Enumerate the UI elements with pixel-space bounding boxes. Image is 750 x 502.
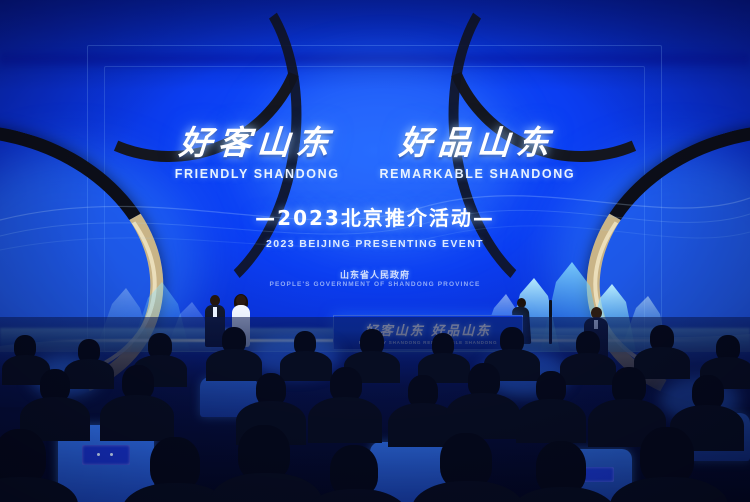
conference-stage-photo: 好客山东 FRIENDLY SHANDONG 好品山东 REMARKABLE S… [0, 0, 750, 502]
audience-shoulders [516, 399, 586, 443]
title-left-chinese: 好客山东 [178, 126, 336, 161]
audience-shoulders [280, 351, 332, 381]
male-host-shirt [213, 307, 217, 317]
audience-area [0, 317, 750, 502]
audience-shoulders [100, 395, 174, 441]
audience-shoulders [64, 359, 114, 389]
audience-shoulders [308, 397, 382, 443]
chair-plate-dot [110, 453, 113, 456]
title-right-chinese: 好品山东 [398, 126, 556, 161]
title-left-group: 好客山东 FRIENDLY SHANDONG [175, 126, 340, 181]
led-title-block: 好客山东 FRIENDLY SHANDONG 好品山东 REMARKABLE S… [0, 126, 750, 250]
chair-plate-dot [97, 453, 100, 456]
title-right-group: 好品山东 REMARKABLE SHANDONG [380, 126, 576, 181]
event-title-chinese: —2023北京推介活动— [0, 202, 750, 231]
audience-chair-plate [82, 445, 130, 465]
title-left-english: FRIENDLY SHANDONG [175, 167, 340, 181]
title-row: 好客山东 FRIENDLY SHANDONG 好品山东 REMARKABLE S… [0, 126, 750, 181]
audience-shoulders [206, 349, 262, 381]
title-right-english: REMARKABLE SHANDONG [380, 167, 576, 181]
audience-shoulders [560, 353, 616, 385]
audience-shoulders [446, 393, 520, 439]
